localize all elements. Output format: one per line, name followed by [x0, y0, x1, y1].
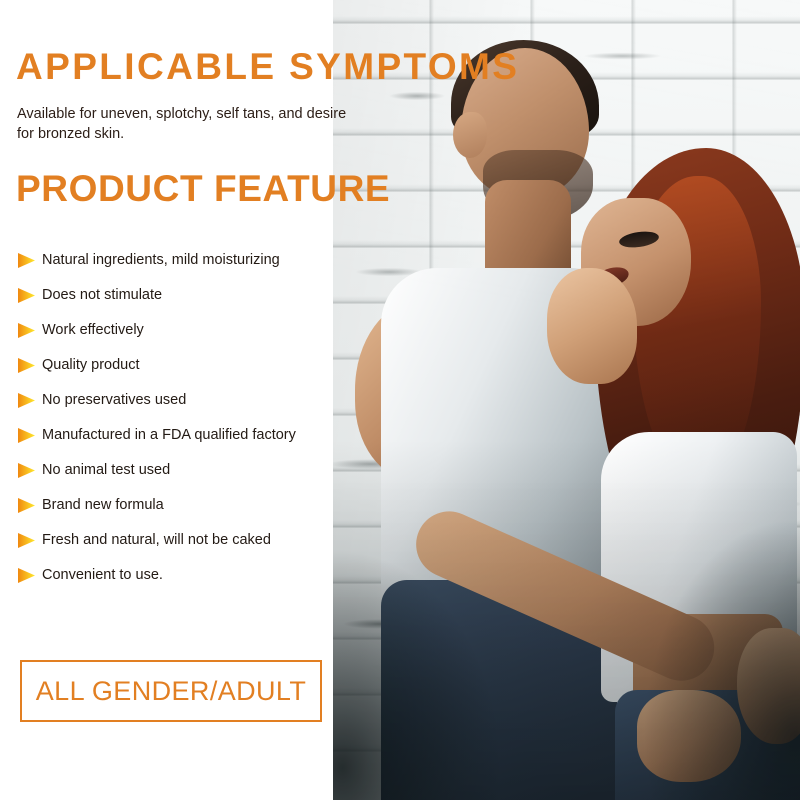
- triangle-right-icon: [17, 532, 36, 549]
- triangle-right-icon: [17, 567, 36, 584]
- triangle-right-icon: [17, 497, 36, 514]
- feature-label: No preservatives used: [42, 393, 186, 408]
- feature-label: Quality product: [42, 358, 140, 373]
- triangle-right-icon: [17, 462, 36, 479]
- symptoms-description: Available for uneven, splotchy, self tan…: [17, 104, 347, 144]
- triangle-right-icon: [17, 392, 36, 409]
- triangle-right-icon: [17, 357, 36, 374]
- triangle-right-icon: [17, 287, 36, 304]
- feature-label: No animal test used: [42, 463, 170, 478]
- feature-list: Natural ingredients, mild moisturizing D…: [0, 243, 330, 593]
- feature-label: Does not stimulate: [42, 288, 162, 303]
- list-item: Work effectively: [0, 313, 330, 348]
- feature-label: Fresh and natural, will not be caked: [42, 533, 271, 548]
- triangle-right-icon: [17, 427, 36, 444]
- text-column: APPLICABLE SYMPTOMS Available for uneven…: [0, 0, 520, 800]
- feature-label: Manufactured in a FDA qualified factory: [42, 428, 296, 443]
- list-item: Convenient to use.: [0, 558, 330, 593]
- feature-label: Brand new formula: [42, 498, 164, 513]
- feature-label: Work effectively: [42, 323, 144, 338]
- applicable-symptoms-heading: APPLICABLE SYMPTOMS: [16, 48, 519, 85]
- list-item: Brand new formula: [0, 488, 330, 523]
- all-gender-adult-button[interactable]: ALL GENDER/ADULT: [20, 660, 322, 722]
- product-feature-poster: APPLICABLE SYMPTOMS Available for uneven…: [0, 0, 800, 800]
- list-item: Natural ingredients, mild moisturizing: [0, 243, 330, 278]
- list-item: Does not stimulate: [0, 278, 330, 313]
- feature-label: Convenient to use.: [42, 568, 163, 583]
- triangle-right-icon: [17, 322, 36, 339]
- list-item: No preservatives used: [0, 383, 330, 418]
- all-gender-adult-label: ALL GENDER/ADULT: [36, 678, 306, 705]
- list-item: Fresh and natural, will not be caked: [0, 523, 330, 558]
- product-feature-heading: PRODUCT FEATURE: [16, 170, 390, 207]
- list-item: Manufactured in a FDA qualified factory: [0, 418, 330, 453]
- triangle-right-icon: [17, 252, 36, 269]
- feature-label: Natural ingredients, mild moisturizing: [42, 253, 280, 268]
- list-item: Quality product: [0, 348, 330, 383]
- list-item: No animal test used: [0, 453, 330, 488]
